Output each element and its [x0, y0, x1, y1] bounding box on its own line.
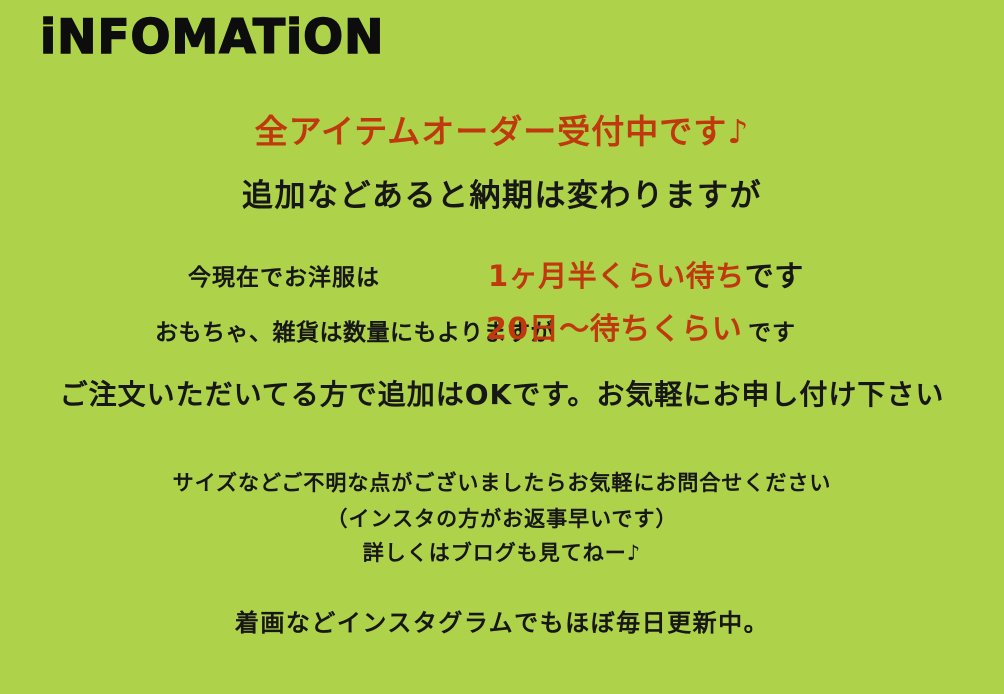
- clothes-leadtime-duration: 1ヶ月半くらい待ち: [488, 259, 745, 293]
- clothes-leadtime-suffix: です: [745, 259, 804, 293]
- inquiry-text: サイズなどご不明な点がございましたらお気軽にお問合せください: [0, 473, 1004, 494]
- clothes-leadtime-label: 今現在でお洋服は: [188, 267, 380, 290]
- blog-note: 詳しくはブログも見てねー♪: [0, 543, 1004, 564]
- clothes-leadtime-value: 1ヶ月半くらい待ちです: [488, 262, 804, 291]
- information-notice-page: iNFOMATiON 全アイテムオーダー受付中です♪ 追加などあると納期は変わり…: [0, 0, 1004, 694]
- additional-order-text: ご注文いただいてる方で追加はOKです。お気軽にお申し付け下さい: [0, 381, 1004, 409]
- order-notice-text: 全アイテムオーダー受付中です♪: [0, 115, 1004, 148]
- instagram-reply-note: （インスタの方がお返事早いです）: [0, 509, 1004, 530]
- goods-leadtime-suffix: です: [748, 322, 796, 345]
- leadtime-note-text: 追加などあると納期は変わりますが: [0, 181, 1004, 212]
- update-note: 着画などインスタグラムでもほぼ毎日更新中。: [0, 611, 1004, 635]
- goods-leadtime-duration: 20日～待ちくらい: [486, 315, 742, 345]
- page-title: iNFOMATiON: [40, 14, 384, 61]
